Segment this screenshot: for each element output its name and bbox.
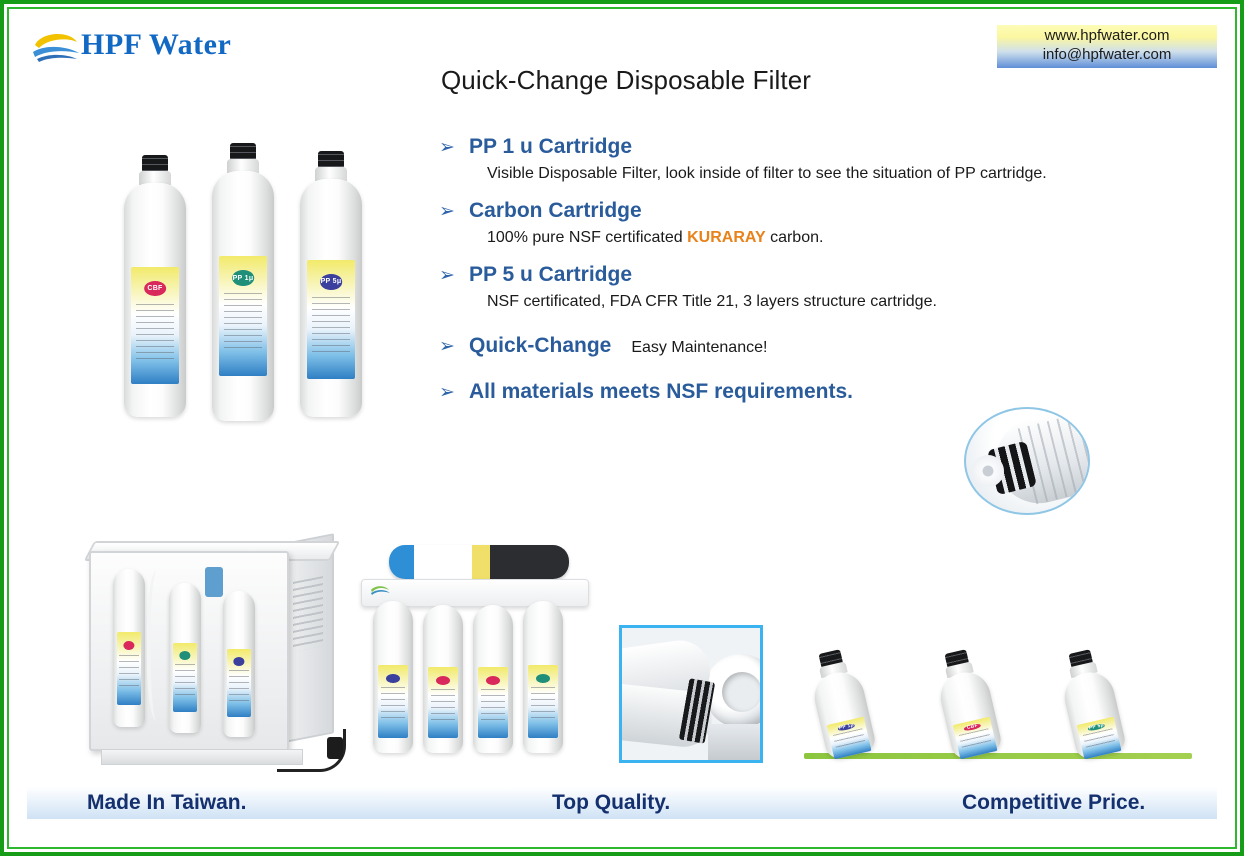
ro-cabinet-image [81, 537, 343, 787]
green-baseline [804, 753, 1192, 759]
cartridge-label-text-lines [119, 655, 139, 691]
cartridge-label-text-lines [381, 687, 405, 723]
cartridge-label-text-lines [531, 687, 555, 723]
slide: HPF Water www.hpfwater.com info@hpfwater… [0, 0, 1244, 856]
power-plug [327, 737, 343, 759]
tilted-cartridge-2: CBF [931, 646, 1004, 761]
ro-brand-mark-icon [369, 583, 429, 599]
cartridge-body [223, 591, 255, 737]
footer-slogan-center: Top Quality. [552, 791, 670, 815]
cartridge-trio-image: CBF PP 1μ PP 5μ [104, 137, 389, 422]
cartridge-badge [536, 674, 550, 683]
cartridge-pp1: PP 1μ [212, 143, 274, 421]
cartridge-label-text-lines [224, 293, 262, 352]
ro-membrane-housing [389, 545, 569, 579]
tilted-cartridges-image: PP 1μ CBF PP 5μ [804, 641, 1199, 769]
cartridge-body [113, 569, 145, 727]
cartridge-label-text-lines [312, 297, 350, 355]
feature-title: PP 5 u Cartridge [469, 263, 632, 287]
cartridge-label-text-lines [175, 664, 195, 698]
feature-item-pp5: ➢ PP 5 u Cartridge NSF certificated, FDA… [439, 263, 1219, 313]
cartridge-badge: CBF [144, 281, 166, 296]
feature-description-post: carbon. [766, 229, 824, 246]
cartridge-cbf: CBF [124, 155, 186, 417]
contact-box: www.hpfwater.com info@hpfwater.com [997, 25, 1217, 68]
connector-port-inner [722, 672, 762, 712]
kuraray-highlight: KURARAY [687, 229, 766, 246]
cartridge-body: PP 1μ [810, 668, 878, 761]
feature-item-pp1: ➢ PP 1 u Cartridge Visible Disposable Fi… [439, 135, 1219, 185]
nozzle-tip [972, 455, 1004, 487]
contact-email[interactable]: info@hpfwater.com [1003, 46, 1211, 65]
cabinet-cartridge-2 [169, 583, 201, 733]
cartridge-body: PP 1μ [212, 171, 274, 421]
footer-slogan-right: Competitive Price. [962, 791, 1145, 815]
cabinet-cartridge-3 [223, 591, 255, 737]
cartridge-body [473, 605, 513, 753]
cartridge-label: PP 1μ [219, 256, 266, 376]
cartridge-label-text-lines [431, 689, 455, 724]
cartridge-label [478, 667, 508, 738]
cartridge-badge [386, 674, 400, 683]
slide-inner-border: HPF Water www.hpfwater.com info@hpfwater… [7, 7, 1237, 849]
feature-inline-note: Easy Maintenance! [631, 339, 767, 357]
feature-description: NSF certificated, FDA CFR Title 21, 3 la… [487, 292, 1219, 313]
feature-title: All materials meets NSF requirements. [469, 380, 853, 404]
cartridge-body [523, 601, 563, 753]
cartridge-badge [436, 676, 450, 685]
nozzle-closeup-image [964, 407, 1090, 515]
feature-item-nsf: ➢ All materials meets NSF requirements. [439, 380, 1219, 404]
footer-slogan-left: Made In Taiwan. [87, 791, 246, 815]
bullet-arrow-icon: ➢ [439, 383, 469, 402]
cartridge-label-text-lines [136, 304, 174, 361]
feature-item-quick-change: ➢ Quick-Change Easy Maintenance! [439, 334, 1219, 358]
ro-system-image [361, 537, 591, 777]
cartridge-body: CBF [936, 668, 1004, 761]
feature-list: ➢ PP 1 u Cartridge Visible Disposable Fi… [439, 135, 1219, 418]
cartridge-label-text-lines [229, 670, 249, 703]
bullet-arrow-icon: ➢ [439, 202, 469, 221]
cartridge-label [528, 665, 558, 738]
bullet-arrow-icon: ➢ [439, 337, 469, 356]
bullet-arrow-icon: ➢ [439, 138, 469, 157]
contact-website[interactable]: www.hpfwater.com [1003, 27, 1211, 46]
page-title-text: Quick-Change Disposable Filter [441, 65, 811, 96]
tilted-cartridge-3: PP 5μ [1055, 646, 1128, 761]
cartridge-badge: PP 1μ [232, 270, 254, 286]
cabinet-valve [205, 567, 223, 597]
cartridge-label [428, 667, 458, 738]
page-title: Quick-Change Disposable Filter [9, 65, 1235, 96]
cartridge-label [117, 632, 141, 705]
footer-bar: Made In Taiwan. Top Quality. Competitive… [27, 787, 1217, 819]
cartridge-badge [123, 641, 134, 650]
cabinet-cartridge-1 [113, 569, 145, 727]
feature-title: PP 1 u Cartridge [469, 135, 632, 159]
cartridge-label [227, 649, 251, 716]
cabinet-shell [89, 551, 289, 751]
cartridge-badge [179, 651, 190, 660]
cartridge-label-text-lines [959, 728, 993, 752]
feature-title: Quick-Change [469, 334, 611, 358]
connector-closeup-image [619, 625, 763, 763]
tilted-cartridge-1: PP 1μ [805, 646, 878, 761]
cartridge-label [173, 643, 197, 712]
cartridge-label-text-lines [481, 689, 505, 724]
ro-cartridge-3 [473, 605, 513, 753]
feature-description-pre: 100% pure NSF certificated [487, 229, 687, 246]
cartridge-body [373, 601, 413, 753]
cartridge-body: CBF [124, 183, 186, 417]
bullet-arrow-icon: ➢ [439, 266, 469, 285]
cartridge-label-text-lines [833, 728, 867, 752]
feature-description: Visible Disposable Filter, look inside o… [487, 164, 1219, 185]
cabinet-tubing [147, 571, 171, 721]
cartridge-label: PP 5μ [307, 260, 354, 379]
feature-description: 100% pure NSF certificated KURARAY carbo… [487, 228, 1219, 249]
cartridge-body: PP 5μ [1060, 668, 1128, 761]
cartridge-label: CBF [131, 267, 178, 384]
cartridge-body [169, 583, 201, 733]
cartridge-label-text-lines [1083, 728, 1117, 752]
cartridge-pp5: PP 5μ [300, 151, 362, 417]
ro-cartridge-2 [423, 605, 463, 753]
feature-item-carbon: ➢ Carbon Cartridge 100% pure NSF certifi… [439, 199, 1219, 249]
cabinet-vents [293, 576, 323, 652]
ro-cartridge-1 [373, 601, 413, 753]
ro-cartridge-4 [523, 601, 563, 753]
cartridge-label [378, 665, 408, 738]
cartridge-body: PP 5μ [300, 179, 362, 417]
cartridge-badge [233, 657, 244, 666]
cartridge-body [423, 605, 463, 753]
logo-text: HPF Water [81, 28, 231, 62]
cabinet-base [101, 749, 303, 765]
cartridge-badge [486, 676, 500, 685]
feature-title: Carbon Cartridge [469, 199, 642, 223]
cartridge-badge: PP 5μ [320, 274, 342, 289]
connector-housing-block [708, 724, 760, 760]
